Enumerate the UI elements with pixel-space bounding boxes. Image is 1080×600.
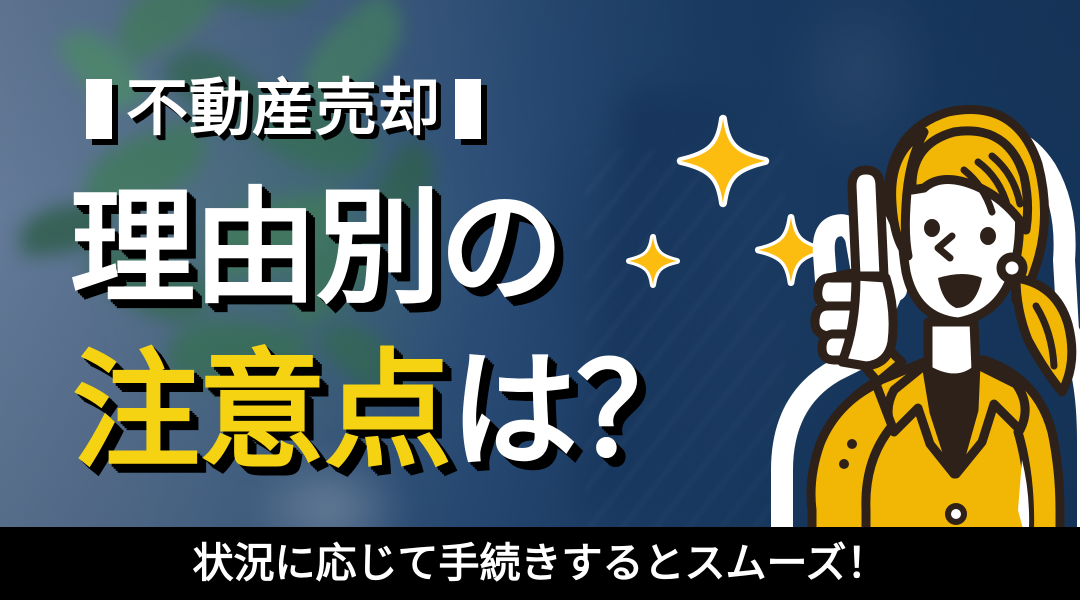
footer-bar: 状況に応じて手続きするとスムーズ！ (0, 527, 1080, 600)
footer-text: 状況に応じて手続きするとスムーズ！ (193, 543, 888, 584)
headline-highlight: 注意点 (72, 340, 450, 483)
kicker-text: 不動産売却 (126, 78, 441, 140)
kicker-right-bar-icon (455, 79, 481, 139)
kicker-line: 不動産売却 (86, 72, 481, 146)
headline-suffix: は？ (450, 340, 702, 483)
headline-line-2: 理由別の (70, 186, 562, 311)
kicker-left-bar-icon (86, 79, 112, 139)
headline-line-3: 注意点は？ (72, 348, 702, 476)
character-illustration: .ol { stroke:#2e2119; stroke-width:9; st… (716, 40, 1080, 600)
promo-banner: .ol { stroke:#2e2119; stroke-width:9; st… (0, 0, 1080, 600)
headline-group: 不動産売却 理由別の 注意点は？ (0, 0, 760, 530)
